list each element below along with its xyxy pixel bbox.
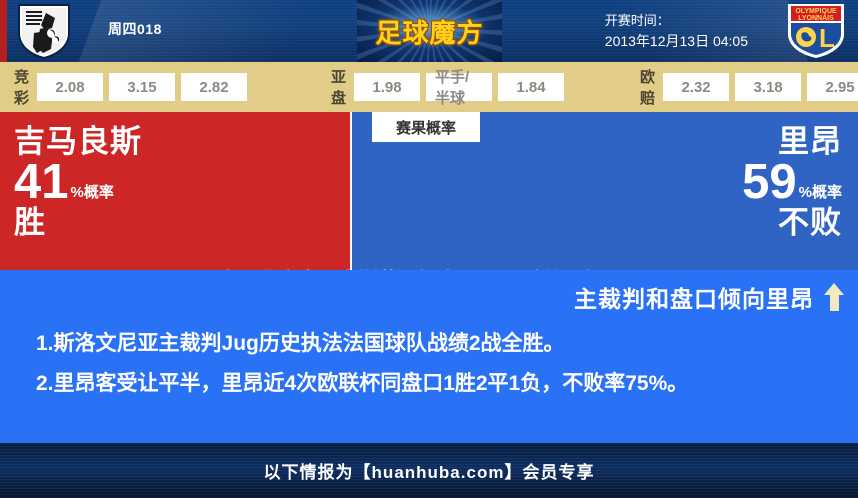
odds-group-label: 欧赔 (640, 66, 655, 108)
svg-text:L: L (819, 23, 835, 53)
footer-bar: 以下情报为【huanhuba.com】会员专享 (0, 443, 858, 498)
info-list-item: 2.里昂客受让平半，里昂近4次欧联杯同盘口1胜2平1负，不败率75%。 (36, 364, 836, 404)
odds-cell: 2.95 (807, 73, 858, 101)
olympique-lyonnais-crest-icon: OLYMPIQUE LYONNAIS L (786, 2, 846, 60)
home-probability-result: 胜 (14, 207, 142, 238)
home-probability-unit: %概率 (71, 185, 114, 205)
odds-cell: 3.18 (735, 73, 801, 101)
odds-cell: 1.98 (354, 73, 420, 101)
kickoff-label: 开赛时间： (605, 10, 748, 31)
logo-text: 足球魔方 (357, 0, 502, 62)
info-panel: 主裁判和盘口倾向里昂 1.斯洛文尼亚主裁判Jug历史执法法国球队战绩2战全胜。 … (0, 270, 858, 443)
odds-group-yapan: 亚盘 1.98 平手/半球 1.84 (331, 66, 570, 108)
site-logo: 足球魔方 (357, 0, 502, 62)
probability-panel: 赛果概率 吉马良斯 41 %概率 胜 里昂 59 %概率 不败 本场比赛吉马良斯… (0, 112, 858, 270)
info-headline-row: 主裁判和盘口倾向里昂 (574, 280, 844, 314)
match-preview-graphic: 周四018 足球魔方 开赛时间： 2013年12月13日 04:05 OLYMP… (0, 0, 858, 498)
away-team-stat: 里昂 59 %概率 不败 (742, 126, 842, 238)
odds-group-label: 亚盘 (331, 66, 346, 108)
vitoria-guimaraes-crest-icon (16, 3, 72, 60)
odds-cell: 2.08 (37, 73, 103, 101)
footer-text: 以下情报为【huanhuba.com】会员专享 (264, 458, 595, 483)
home-team-stat: 吉马良斯 41 %概率 胜 (14, 126, 142, 238)
away-probability-unit: %概率 (799, 185, 842, 205)
header-red-accent (0, 0, 7, 62)
info-headline: 主裁判和盘口倾向里昂 (574, 280, 814, 314)
odds-bar: 竞彩 2.08 3.15 2.82 亚盘 1.98 平手/半球 1.84 欧赔 … (0, 62, 858, 112)
probability-badge: 赛果概率 (372, 112, 480, 142)
away-probability-value: 59 (742, 160, 797, 205)
odds-cell: 2.82 (181, 73, 247, 101)
odds-cell: 2.32 (663, 73, 729, 101)
away-probability-result: 不败 (742, 207, 842, 238)
home-team-name: 吉马良斯 (14, 126, 142, 157)
info-list-item: 1.斯洛文尼亚主裁判Jug历史执法法国球队战绩2战全胜。 (36, 324, 836, 364)
odds-cell: 3.15 (109, 73, 175, 101)
odds-cell-handicap: 平手/半球 (426, 73, 492, 101)
home-probability-value: 41 (14, 160, 69, 205)
match-round-label: 周四018 (108, 19, 162, 39)
odds-group-jingcai: 竞彩 2.08 3.15 2.82 (14, 66, 253, 108)
kickoff-time: 2013年12月13日 04:05 (605, 31, 748, 52)
info-item-list: 1.斯洛文尼亚主裁判Jug历史执法法国球队战绩2战全胜。 2.里昂客受让平半，里… (36, 324, 836, 404)
header-bar: 周四018 足球魔方 开赛时间： 2013年12月13日 04:05 OLYMP… (0, 0, 858, 62)
svg-text:LYONNAIS: LYONNAIS (798, 15, 834, 22)
odds-group-oupei: 欧赔 2.32 3.18 2.95 (640, 66, 858, 108)
svg-text:OLYMPIQUE: OLYMPIQUE (795, 8, 837, 15)
away-team-name: 里昂 (742, 126, 842, 157)
kickoff-block: 开赛时间： 2013年12月13日 04:05 (605, 10, 748, 52)
up-arrow-icon (824, 283, 844, 311)
odds-cell: 1.84 (498, 73, 564, 101)
odds-group-label: 竞彩 (14, 66, 29, 108)
